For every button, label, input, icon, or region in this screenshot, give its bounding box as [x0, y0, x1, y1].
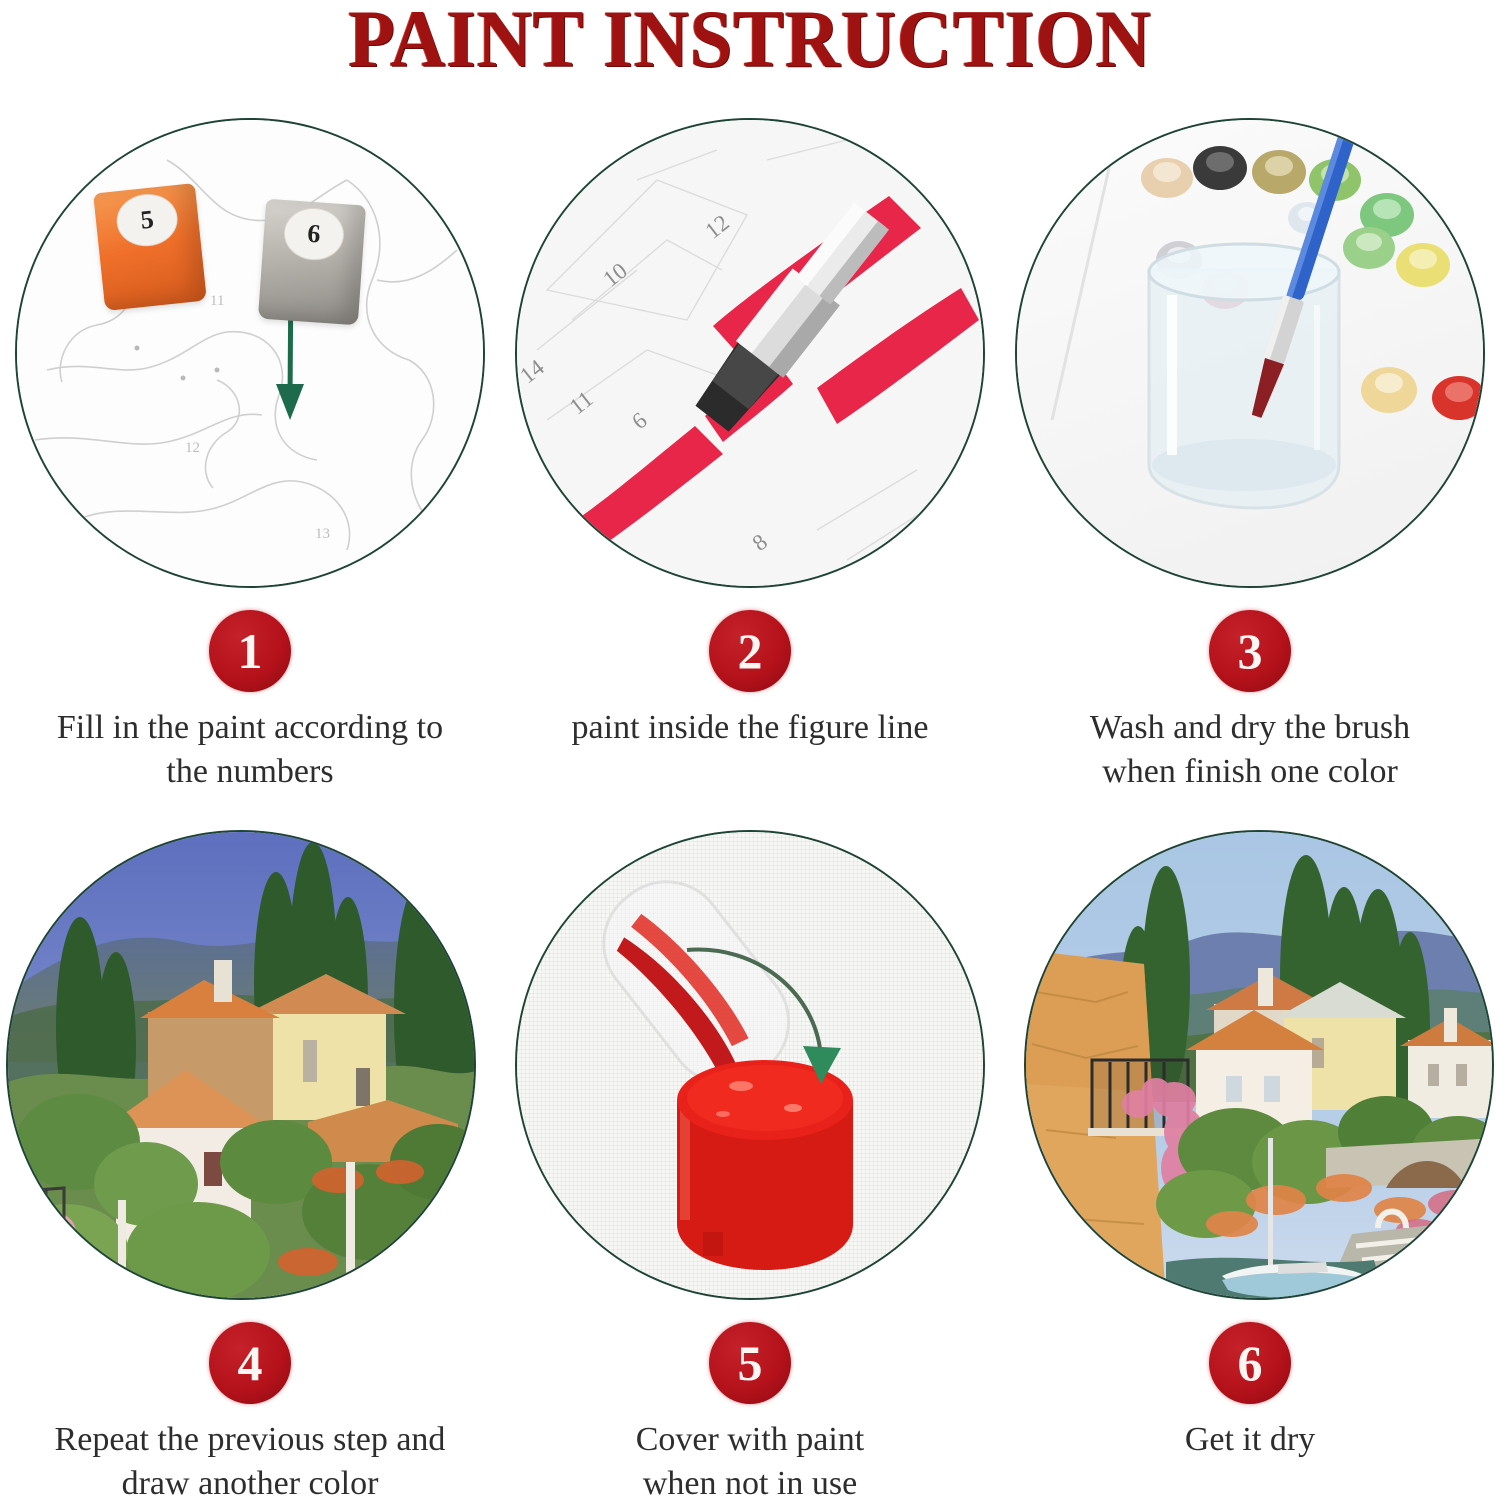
canvas-number: 14 [517, 354, 549, 388]
water-glass [1149, 244, 1339, 508]
step-badge-wrap-2: 2 [500, 610, 1000, 692]
step-caption-3: Wash and dry the brush when finish one c… [1000, 706, 1500, 794]
canvas-number: 13 [315, 526, 330, 542]
step-image-4 [6, 830, 476, 1300]
steps-grid: 11 12 13 5 [0, 0, 1500, 1500]
step-card-4: 4 Repeat the previous step and draw anot… [0, 830, 500, 1500]
step-badge-wrap-3: 3 [1000, 610, 1500, 692]
step-caption-2: paint inside the figure line [500, 706, 1000, 750]
step-badge-wrap-1: 1 [0, 610, 500, 692]
canvas-number: 11 [210, 293, 224, 309]
step-caption-1: Fill in the paint according to the numbe… [0, 706, 500, 794]
paint-pot-5: 5 [93, 183, 207, 311]
step-card-1: 11 12 13 5 [0, 118, 500, 818]
step-badge-wrap-5: 5 [500, 1322, 1000, 1404]
canvas-number: 8 [748, 529, 772, 556]
step-badge-4: 4 [209, 1322, 291, 1404]
paint-pot-5-label: 5 [114, 191, 180, 249]
step-image-5 [515, 830, 985, 1300]
step-badge-6: 6 [1209, 1322, 1291, 1404]
canvas-number: 12 [700, 210, 734, 244]
step-badge-5: 5 [709, 1322, 791, 1404]
step-card-2: 10 12 8 9 6 5 11 14 [500, 118, 1000, 818]
canvas-number: 10 [598, 258, 632, 292]
step-card-5: 5 Cover with paint when not in use [500, 830, 1000, 1500]
step-image-3 [1015, 118, 1485, 588]
step-image-6 [1024, 830, 1494, 1300]
step-card-3: 3 Wash and dry the brush when finish one… [1000, 118, 1500, 818]
step-caption-5: Cover with paint when not in use [500, 1418, 1000, 1506]
step-card-6: 6 Get it dry [1000, 830, 1500, 1500]
step-image-1: 11 12 13 5 [15, 118, 485, 588]
canvas-number: 12 [185, 440, 200, 456]
paint-pot-6: 6 [258, 199, 366, 326]
step-caption-4: Repeat the previous step and draw anothe… [0, 1418, 500, 1506]
step-badge-1: 1 [209, 610, 291, 692]
step-caption-6: Get it dry [1000, 1418, 1500, 1462]
step-image-2: 10 12 8 9 6 5 11 14 [515, 118, 985, 588]
step-badge-3: 3 [1209, 610, 1291, 692]
paint-pot-6-label: 6 [282, 206, 346, 262]
canvas-number: 6 [627, 407, 651, 434]
paint-pot-red [677, 1060, 853, 1270]
step-badge-wrap-6: 6 [1000, 1322, 1500, 1404]
canvas-number: 11 [565, 386, 598, 419]
step-badge-2: 2 [709, 610, 791, 692]
step-badge-wrap-4: 4 [0, 1322, 500, 1404]
